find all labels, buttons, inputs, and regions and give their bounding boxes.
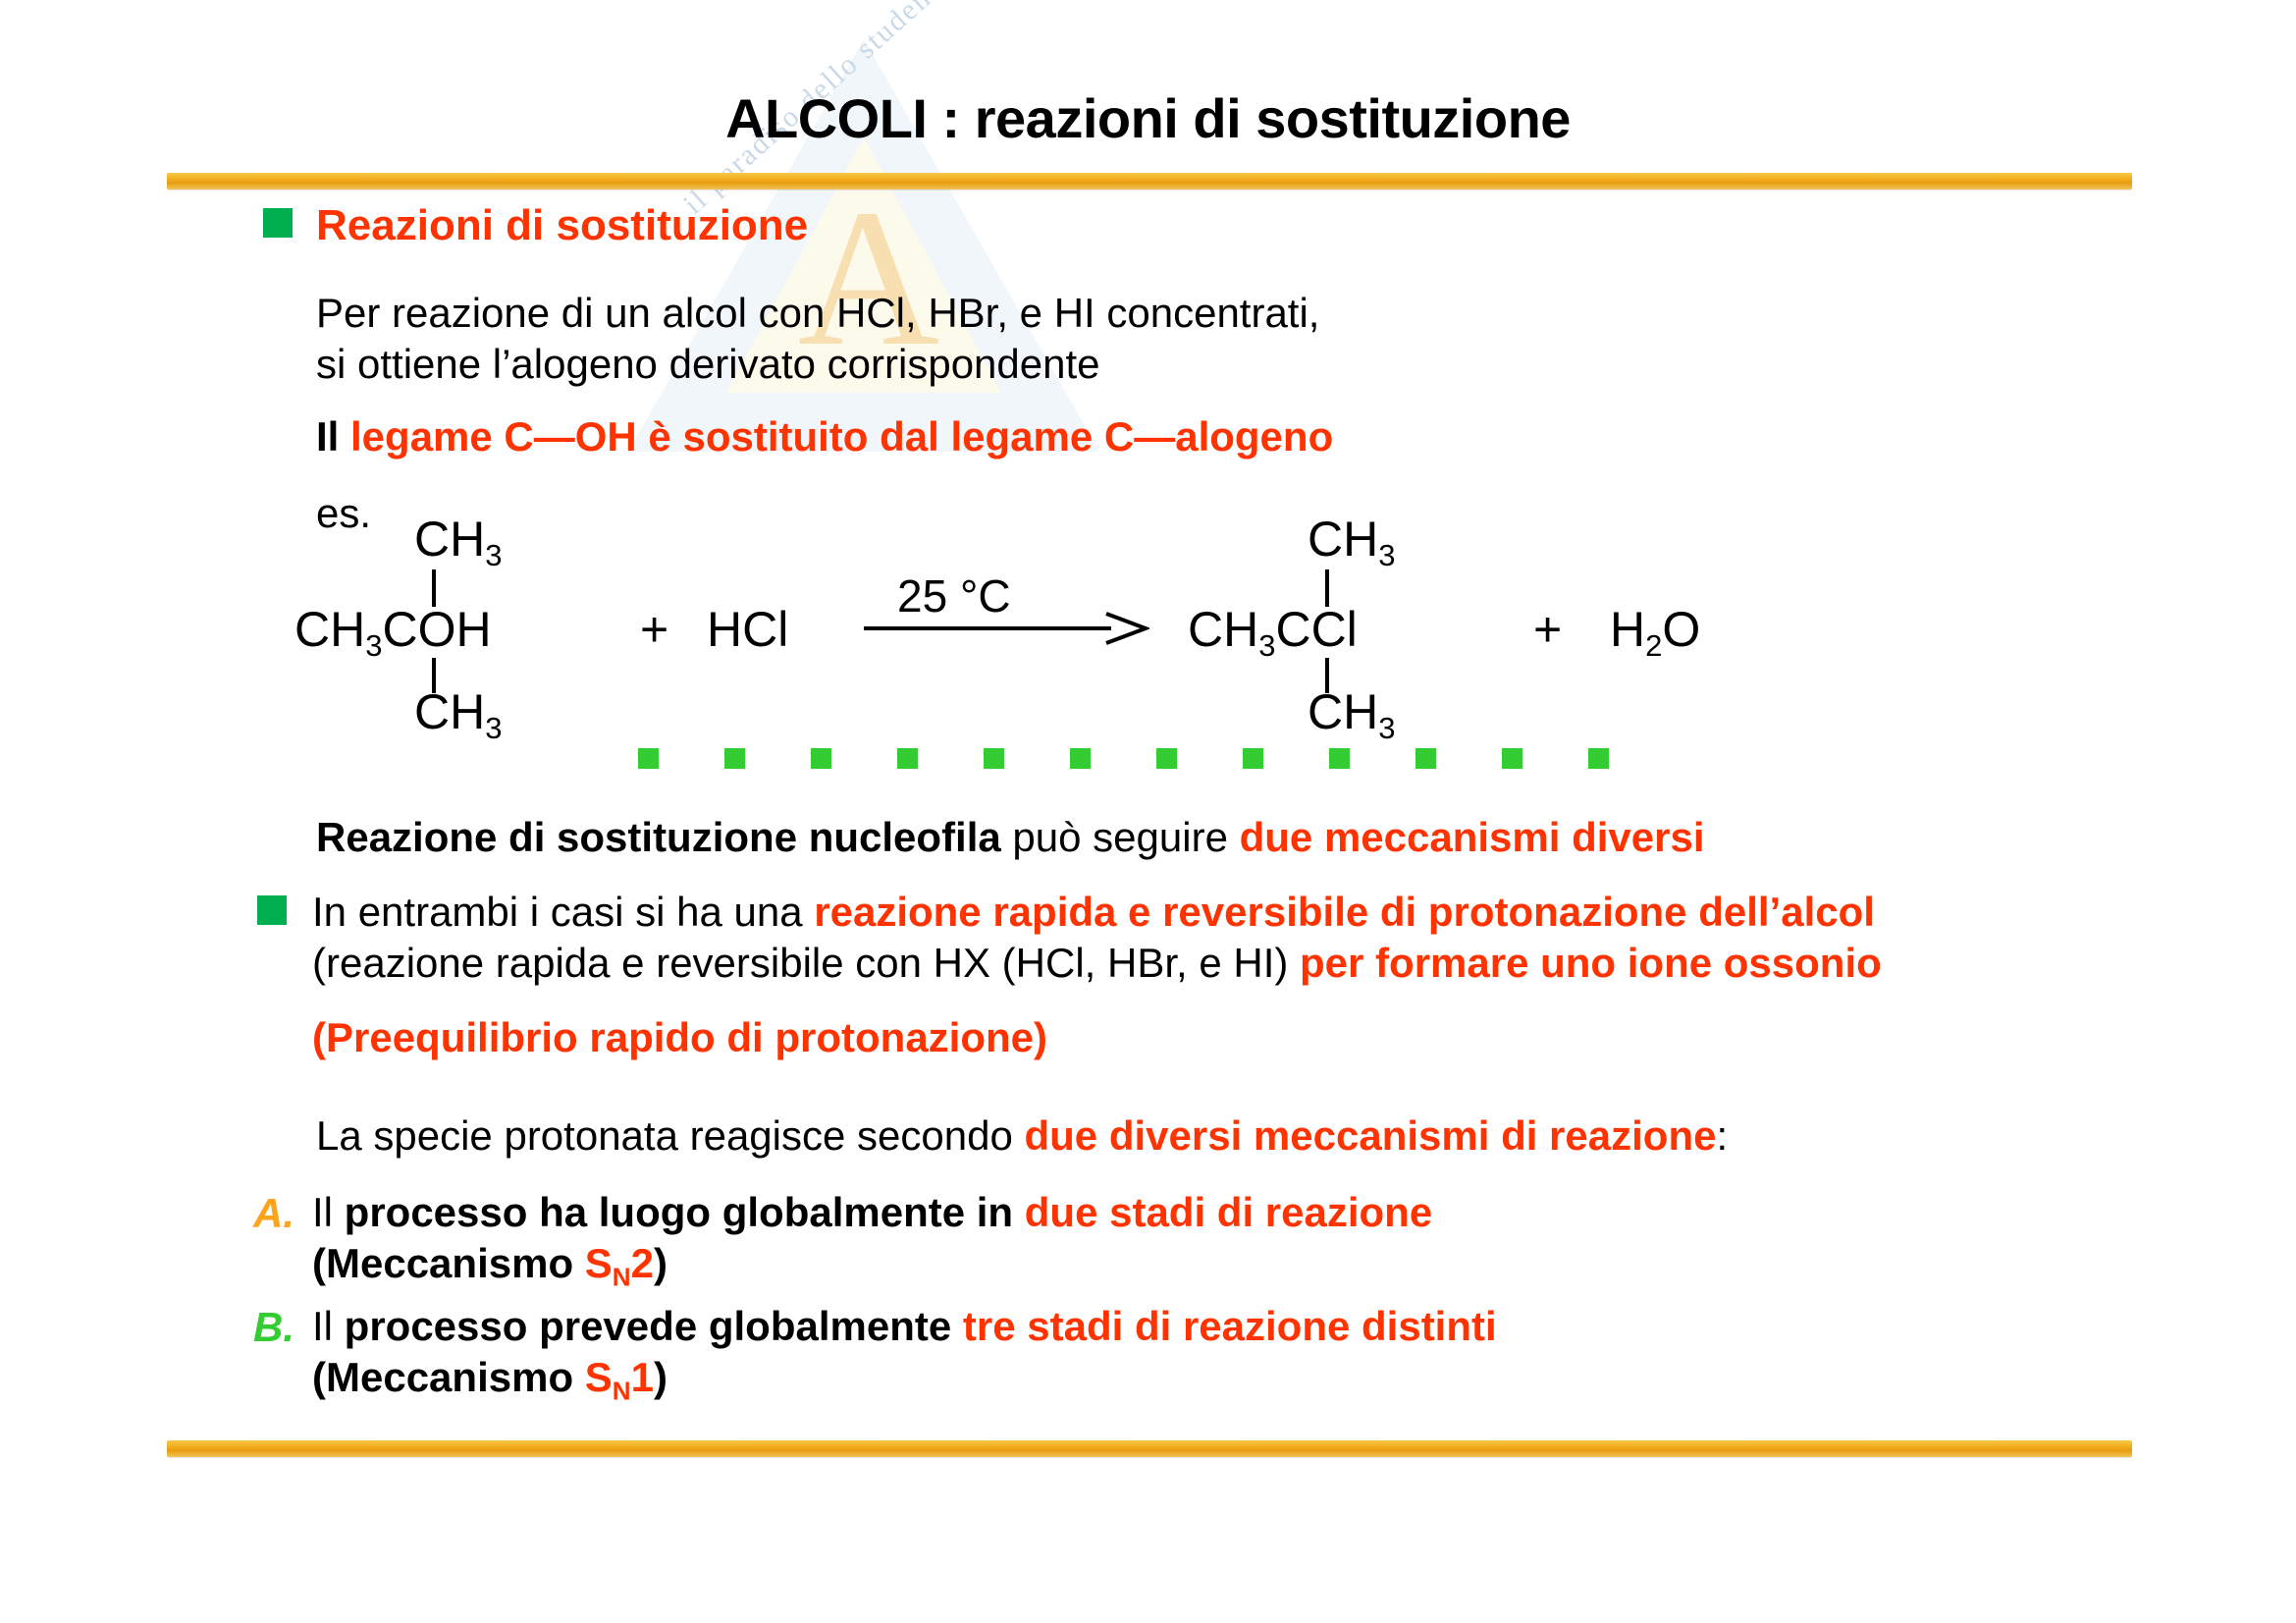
both-cases-line1-red: reazione rapida e reversibile di protona… <box>814 889 1875 935</box>
nucleophilic-red: due meccanismi diversi <box>1240 814 1705 860</box>
nucleophilic-plain: può seguire <box>1001 814 1240 860</box>
page-title: ALCOLI : reazioni di sostituzione <box>0 86 2296 150</box>
mechanism-a-paren-close: ) <box>654 1240 667 1286</box>
both-cases-line2-red: per formare uno ione ossonio <box>1300 940 1882 986</box>
bond-statement-prefix: Il <box>316 413 350 460</box>
mechanism-b-symbol-sub: N <box>613 1376 631 1405</box>
mechanism-a-symbol-sub: N <box>613 1262 631 1291</box>
mechanism-a-paren-open: ( <box>312 1240 326 1286</box>
divider-square <box>1070 748 1091 769</box>
bullet-square-heading <box>263 208 293 238</box>
bond-statement: Il legame C—OH è sostituito dal legame C… <box>316 410 1333 463</box>
mechanism-a-red: due stadi di reazione <box>1025 1189 1432 1235</box>
product-backbone: CH3CCl <box>1188 601 1358 664</box>
bond-statement-part3: alogeno <box>1175 413 1333 460</box>
intro-line-1: Per reazione di un alcol con HCl, HBr, e… <box>316 287 1319 340</box>
divider-square <box>1588 748 1609 769</box>
mechanism-a-symbol: S <box>585 1240 613 1286</box>
reactant-top-methyl: CH3 <box>414 511 502 573</box>
protonated-red: due diversi meccanismi di reazione <box>1025 1112 1717 1159</box>
plus-sign-2: + <box>1533 601 1562 658</box>
both-cases-line2-plain: (reazione rapida e reversibile con HX (H… <box>312 940 1300 986</box>
mechanism-a-line-2: (Meccanismo SN2) <box>312 1237 667 1294</box>
bond-dash-2: — <box>1134 413 1175 460</box>
divider-square <box>897 748 918 769</box>
mechanism-a-prefix: Il <box>312 1189 345 1235</box>
reaction-conditions: 25 °C <box>897 569 1011 622</box>
mechanism-b-paren-open: ( <box>312 1354 326 1400</box>
mechanism-b-line-1: Il processo prevede globalmente tre stad… <box>312 1300 1497 1353</box>
bond-statement-part2: OH è sostituito dal legame C <box>575 413 1134 460</box>
protonated-statement: La specie protonata reagisce secondo due… <box>316 1109 1728 1163</box>
mechanism-b-line-2: (Meccanismo SN1) <box>312 1351 667 1408</box>
reactant-molecule: CH3 CH3COH CH3 <box>294 511 618 697</box>
mechanism-a-label: Meccanismo <box>326 1240 585 1286</box>
nucleophilic-bold: Reazione di sostituzione nucleofila <box>316 814 1001 860</box>
protonated-colon: : <box>1716 1112 1728 1159</box>
divider-square <box>1329 748 1350 769</box>
arrow-head-icon <box>1104 612 1149 645</box>
mechanism-a-bold: processo ha luogo globalmente in <box>345 1189 1025 1235</box>
mechanism-b-order: 1 <box>631 1354 654 1400</box>
divider-square-row <box>638 748 1620 772</box>
both-cases-line-3: (Preequilibrio rapido di protonazione) <box>312 1011 1047 1064</box>
reagent-hcl: HCl <box>707 601 788 658</box>
bond-statement-part1: legame C <box>350 413 534 460</box>
mechanism-b-paren-close: ) <box>654 1354 667 1400</box>
plus-sign-1: + <box>640 601 668 658</box>
section-heading: Reazioni di sostituzione <box>316 198 808 253</box>
nucleophilic-statement: Reazione di sostituzione nucleofila può … <box>316 811 1705 864</box>
product-molecule: CH3 CH3CCl CH3 <box>1188 511 1512 697</box>
divider-square <box>984 748 1004 769</box>
bullet-square-both-cases <box>257 895 287 925</box>
mechanism-b-prefix: Il <box>312 1303 345 1349</box>
divider-square <box>1502 748 1522 769</box>
product-bottom-methyl: CH3 <box>1308 683 1395 746</box>
arrow-shaft <box>864 626 1111 630</box>
byproduct-water: H2O <box>1610 601 1700 664</box>
mechanism-b-symbol: S <box>585 1354 613 1400</box>
mechanism-b-bold: processo prevede globalmente <box>345 1303 963 1349</box>
intro-line-2: si ottiene l’alogeno derivato corrispond… <box>316 338 1100 391</box>
both-cases-line-1: In entrambi i casi si ha una reazione ra… <box>312 886 1875 939</box>
bond-dash-1: — <box>534 413 575 460</box>
divider-square <box>724 748 745 769</box>
mechanism-a-order: 2 <box>631 1240 654 1286</box>
reactant-bottom-methyl: CH3 <box>414 683 502 746</box>
mechanism-marker-a: A. <box>253 1190 294 1237</box>
both-cases-line-2: (reazione rapida e reversibile con HX (H… <box>312 937 1882 990</box>
product-top-methyl: CH3 <box>1308 511 1395 573</box>
mechanism-a-line-1: Il processo ha luogo globalmente in due … <box>312 1186 1432 1239</box>
mechanism-b-red: tre stadi di reazione distinti <box>963 1303 1497 1349</box>
both-cases-line1-plain: In entrambi i casi si ha una <box>312 889 814 935</box>
protonated-plain: La specie protonata reagisce secondo <box>316 1112 1025 1159</box>
divider-square <box>1243 748 1263 769</box>
divider-square <box>638 748 659 769</box>
reactant-backbone: CH3COH <box>294 601 492 664</box>
divider-square <box>811 748 831 769</box>
divider-square <box>1415 748 1436 769</box>
mechanism-b-label: Meccanismo <box>326 1354 585 1400</box>
divider-rule-top <box>167 173 2132 189</box>
mechanism-marker-b: B. <box>253 1304 294 1351</box>
divider-rule-bottom <box>167 1440 2132 1457</box>
divider-square <box>1156 748 1177 769</box>
